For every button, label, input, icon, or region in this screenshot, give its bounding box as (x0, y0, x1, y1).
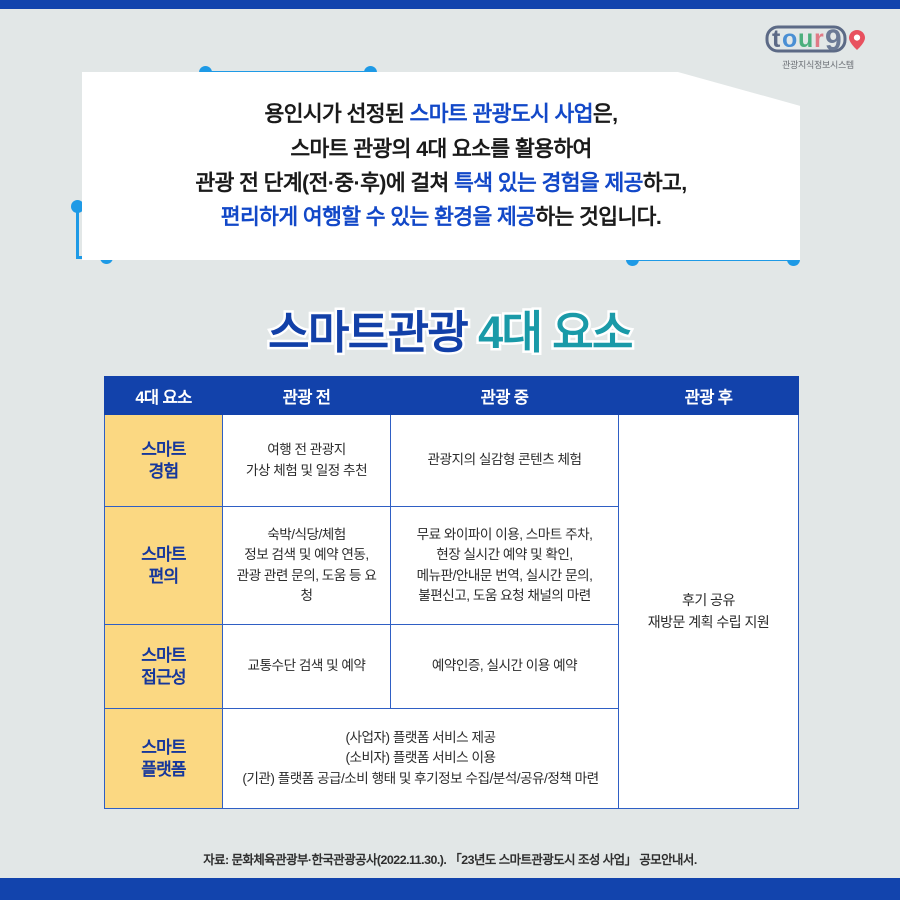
cell-experience-before: 여행 전 관광지 가상 체험 및 일정 추천 (223, 415, 391, 507)
map-pin-icon (849, 30, 865, 50)
four-elements-table-wrapper: 4대 요소 관광 전 관광 중 관광 후 스마트 경험 여행 전 관광지 가상 … (104, 376, 798, 809)
tour-logo: t o u r 9 관광지식정보시스템 (754, 20, 882, 71)
row-head-line: 스마트 (105, 544, 222, 566)
header-quote-plain: 스마트 관광의 4대 요소를 활용하여 (290, 137, 591, 161)
cell-line: 숙박/식당/체험 (231, 525, 382, 545)
cell-line: 재방문 계획 수립 지원 (619, 612, 798, 634)
header-quote-highlight: 특색 있는 경험을 제공 (454, 171, 643, 195)
header-quote-line-3: 관광 전 단계(전·중·후)에 걸쳐 특색 있는 경험을 제공하고, (195, 169, 686, 197)
four-elements-table: 4대 요소 관광 전 관광 중 관광 후 스마트 경험 여행 전 관광지 가상 … (104, 376, 799, 809)
row-head-line: 경험 (105, 461, 222, 483)
section-title-teal: 4대 요소 (478, 307, 632, 358)
cell-convenience-during: 무료 와이파이 이용, 스마트 주차, 현장 실시간 예약 및 확인, 메뉴판/… (391, 507, 619, 625)
header-quote-plain: 하는 것입니다. (535, 205, 661, 229)
cell-line: 관광 관련 문의, 도움 등 요청 (231, 566, 382, 607)
cell-line: (소비자) 플랫폼 서비스 이용 (231, 748, 610, 768)
header-quote-plain: 은, (593, 102, 618, 126)
row-head-platform: 스마트 플랫폼 (105, 709, 223, 809)
table-header-row: 4대 요소 관광 전 관광 중 관광 후 (105, 377, 799, 415)
cell-line: 예약인증, 실시간 이용 예약 (399, 656, 610, 676)
cell-line: 불편신고, 도움 요청 채널의 마련 (399, 586, 610, 606)
svg-text:r: r (814, 25, 824, 53)
svg-text:u: u (798, 25, 813, 53)
header-quote: 용인시가 선정된 스마트 관광도시 사업은, 스마트 관광의 4대 요소를 활용… (82, 72, 800, 260)
deco-line-left-vertical (76, 206, 79, 258)
svg-text:o: o (782, 25, 797, 53)
row-head-line: 편의 (105, 566, 222, 588)
col-header-during: 관광 중 (391, 377, 619, 415)
row-head-experience: 스마트 경험 (105, 415, 223, 507)
header-quote-highlight: 편리하게 여행할 수 있는 환경을 제공 (221, 205, 536, 229)
cell-line: 여행 전 관광지 (231, 440, 382, 460)
section-title: 스마트관광 4대 요소 (0, 296, 900, 361)
cell-line: 후기 공유 (619, 590, 798, 612)
cell-line: 교통수단 검색 및 예약 (231, 656, 382, 676)
tour-logo-mark: t o u r 9 (762, 20, 874, 56)
logo-caption: 관광지식정보시스템 (754, 58, 882, 71)
header-quote-highlight: 스마트 관광도시 사업 (410, 102, 593, 126)
cell-line: 가상 체험 및 일정 추천 (231, 461, 382, 481)
cell-accessibility-during: 예약인증, 실시간 이용 예약 (391, 625, 619, 709)
tour-wordmark-icon: t o u r 9 (762, 20, 874, 56)
source-note: 자료: 문화체육관광부·한국관광공사(2022.11.30.). 「23년도 스… (0, 850, 900, 868)
section-title-navy: 스마트관광 (268, 307, 467, 358)
cell-accessibility-before: 교통수단 검색 및 예약 (223, 625, 391, 709)
cell-line: 현장 실시간 예약 및 확인, (399, 545, 610, 565)
cell-after-shared: 후기 공유 재방문 계획 수립 지원 (619, 415, 799, 809)
cell-line: (기관) 플랫폼 공급/소비 행태 및 후기정보 수집/분석/공유/정책 마련 (231, 769, 610, 789)
header-quote-line-2: 스마트 관광의 4대 요소를 활용하여 (290, 135, 591, 163)
svg-text:t: t (772, 25, 781, 53)
row-head-accessibility: 스마트 접근성 (105, 625, 223, 709)
row-head-convenience: 스마트 편의 (105, 507, 223, 625)
cell-line: 관광지의 실감형 콘텐츠 체험 (399, 450, 610, 470)
header-quote-line-4: 편리하게 여행할 수 있는 환경을 제공하는 것입니다. (221, 203, 661, 231)
cell-experience-during: 관광지의 실감형 콘텐츠 체험 (391, 415, 619, 507)
cell-line: 정보 검색 및 예약 연동, (231, 545, 382, 565)
header-quote-line-1: 용인시가 선정된 스마트 관광도시 사업은, (265, 100, 618, 128)
row-head-line: 접근성 (105, 667, 222, 689)
row-head-line: 스마트 (105, 439, 222, 461)
col-header-elements: 4대 요소 (105, 377, 223, 415)
cell-convenience-before: 숙박/식당/체험 정보 검색 및 예약 연동, 관광 관련 문의, 도움 등 요… (223, 507, 391, 625)
svg-text:9: 9 (825, 24, 842, 56)
bottom-accent-bar (0, 878, 900, 900)
row-head-line: 플랫폼 (105, 759, 222, 781)
header-quote-plain: 용인시가 선정된 (265, 102, 410, 126)
top-accent-bar (0, 0, 900, 9)
col-header-after: 관광 후 (619, 377, 799, 415)
row-head-line: 스마트 (105, 737, 222, 759)
header-quote-plain: 하고, (643, 171, 687, 195)
cell-line: (사업자) 플랫폼 서비스 제공 (231, 728, 610, 748)
table-row: 스마트 경험 여행 전 관광지 가상 체험 및 일정 추천 관광지의 실감형 콘… (105, 415, 799, 507)
cell-platform-merged: (사업자) 플랫폼 서비스 제공 (소비자) 플랫폼 서비스 이용 (기관) 플… (223, 709, 619, 809)
header-quote-plain: 관광 전 단계(전·중·후)에 걸쳐 (195, 171, 454, 195)
cell-line: 무료 와이파이 이용, 스마트 주차, (399, 525, 610, 545)
row-head-line: 스마트 (105, 645, 222, 667)
cell-line: 메뉴판/안내문 번역, 실시간 문의, (399, 566, 610, 586)
col-header-before: 관광 전 (223, 377, 391, 415)
